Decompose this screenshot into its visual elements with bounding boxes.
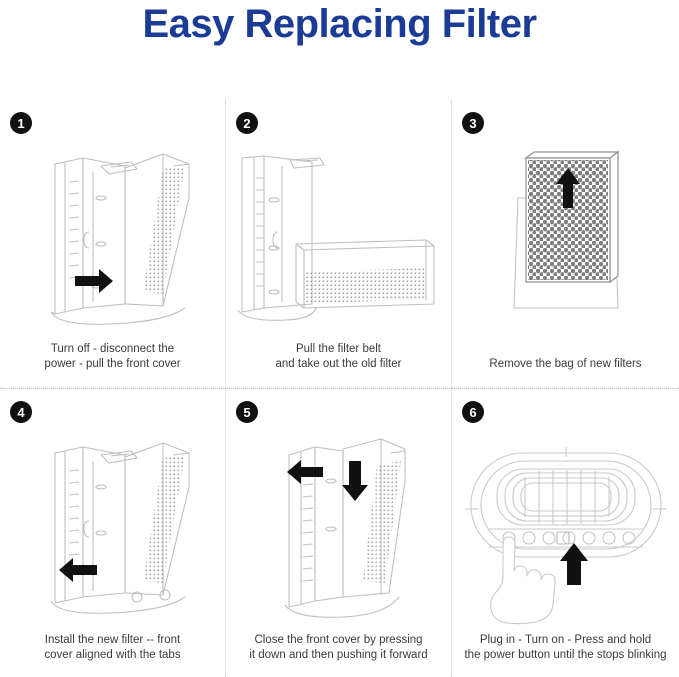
step-artwork-6 <box>452 419 679 631</box>
arrow-down-icon <box>342 461 368 501</box>
instruction-sheet: Easy Replacing Filter 1 <box>0 0 679 677</box>
step-panel-6: 6 <box>452 388 679 677</box>
arrow-right-icon <box>75 269 113 293</box>
hand-icon <box>490 537 555 624</box>
step-caption-1: Turn off - disconnect the power - pull t… <box>6 342 219 372</box>
arrow-left-icon <box>287 460 323 484</box>
step-caption-5: Close the front cover by pressing it dow… <box>232 633 445 663</box>
step-panel-3: 3 <box>452 100 679 388</box>
step-artwork-5 <box>226 419 451 631</box>
step-panel-1: 1 <box>0 100 226 388</box>
step-panel-4: 4 <box>0 388 226 677</box>
step-artwork-4 <box>0 419 225 631</box>
step-artwork-1 <box>0 130 225 342</box>
steps-grid: 1 <box>0 100 679 677</box>
step-panel-5: 5 <box>226 388 452 677</box>
step-caption-4: Install the new filter -- front cover al… <box>6 633 219 663</box>
step-caption-6: Plug in - Turn on - Press and hold the p… <box>458 633 673 663</box>
step-artwork-2 <box>226 130 451 342</box>
step-caption-2: Pull the filter belt and take out the ol… <box>232 342 445 372</box>
step-artwork-3 <box>452 130 679 342</box>
step-caption-3: Remove the bag of new filters <box>458 357 673 372</box>
step-panel-2: 2 <box>226 100 452 388</box>
page-title: Easy Replacing Filter <box>0 2 679 47</box>
